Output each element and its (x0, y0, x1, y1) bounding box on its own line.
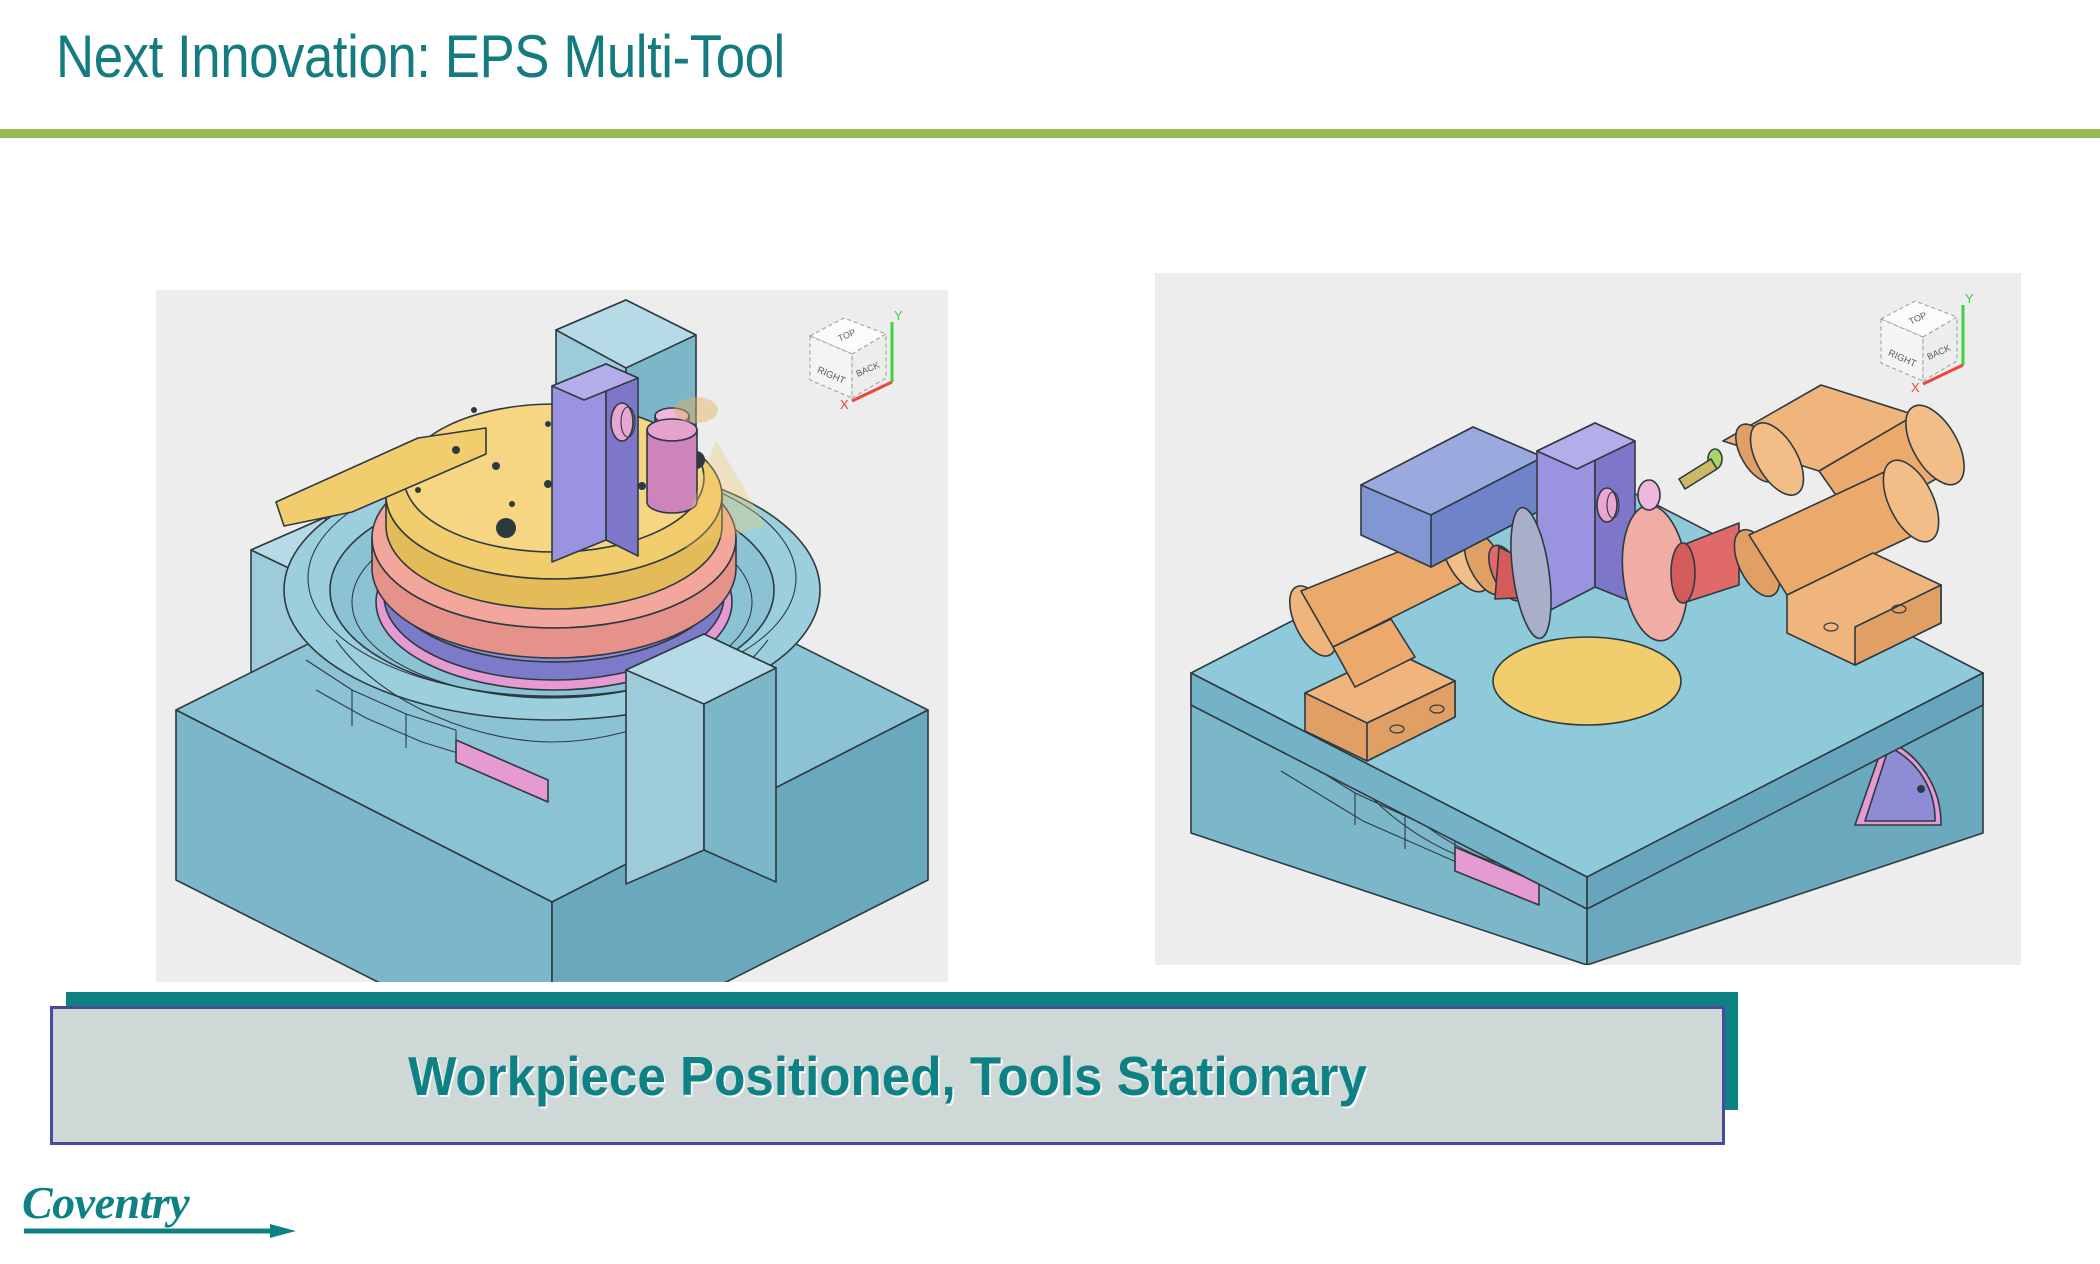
tool-tip-green (1679, 449, 1722, 489)
caption-text: Workpiece Positioned, Tools Stationary (408, 1044, 1367, 1108)
axis-y-label: Y (1965, 291, 1974, 306)
axis-x-label: X (1911, 380, 1920, 395)
axis-y-label: Y (894, 308, 903, 323)
tool-post-purple (552, 364, 638, 562)
cad-figure-workpiece-positioner: .ln { stroke:#2e3a40; stroke-width:1.6; … (156, 290, 948, 982)
view-cube-right[interactable]: TOP RIGHT BACK Y X (1867, 285, 1987, 395)
coventry-logo: Coventry (22, 1180, 322, 1250)
riser-block-right (626, 634, 776, 884)
caption-banner: Workpiece Positioned, Tools Stationary (50, 1006, 1725, 1145)
tool-spindle-pink (647, 408, 697, 513)
tool-post-purple (1537, 423, 1635, 617)
title-divider-rule (0, 129, 2100, 138)
page-title: Next Innovation: EPS Multi-Tool (56, 23, 785, 91)
ring-collar-pink (611, 403, 635, 441)
view-cube-left[interactable]: TOP RIGHT BACK Y X (796, 302, 916, 412)
cad-figure-stationary-tools: .rn { stroke:#2e3a40; stroke-width:1.6; … (1155, 273, 2021, 965)
fixture-plate-yellow (1493, 637, 1681, 725)
axis-x-label: X (840, 397, 849, 412)
logo-arrow-icon (24, 1220, 304, 1242)
